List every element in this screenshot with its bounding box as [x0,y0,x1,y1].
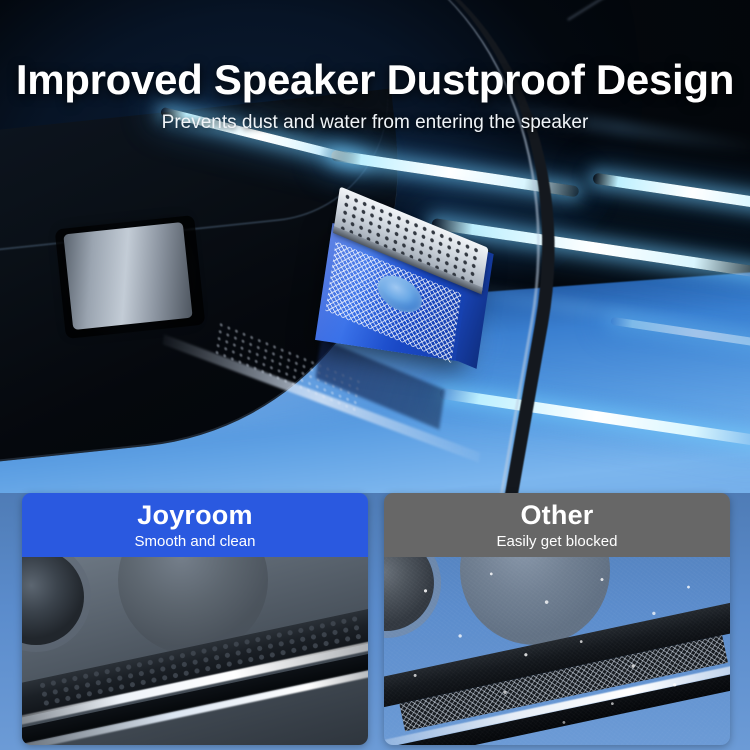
panel-subtitle: Easily get blocked [497,534,618,549]
panel-title: Other [520,502,593,529]
comparison-panel-other: Other Easily get blocked [384,493,730,745]
product-feature-image: Improved Speaker Dustproof Design Preven… [0,0,750,750]
page-title: Improved Speaker Dustproof Design [0,56,750,104]
camera-lens [22,557,84,645]
blocked-grille-image [384,557,730,745]
comparison-panel-joyroom: Joyroom Smooth and clean [22,493,368,745]
panel-photo-blocked-grille [384,557,730,745]
camera-lens [384,557,434,631]
page-subtitle: Prevents dust and water from entering th… [0,112,750,134]
panel-subtitle: Smooth and clean [135,534,256,549]
panel-photo-clean-grille [22,557,368,745]
clean-grille-image [22,557,368,745]
comparison-section: Joyroom Smooth and clean [0,493,750,750]
panel-header-other: Other Easily get blocked [384,493,730,557]
speaker-dustproof-mesh-render [303,205,494,446]
panel-title: Joyroom [137,502,252,529]
panel-header-joyroom: Joyroom Smooth and clean [22,493,368,557]
hero-section: Improved Speaker Dustproof Design Preven… [0,0,750,495]
